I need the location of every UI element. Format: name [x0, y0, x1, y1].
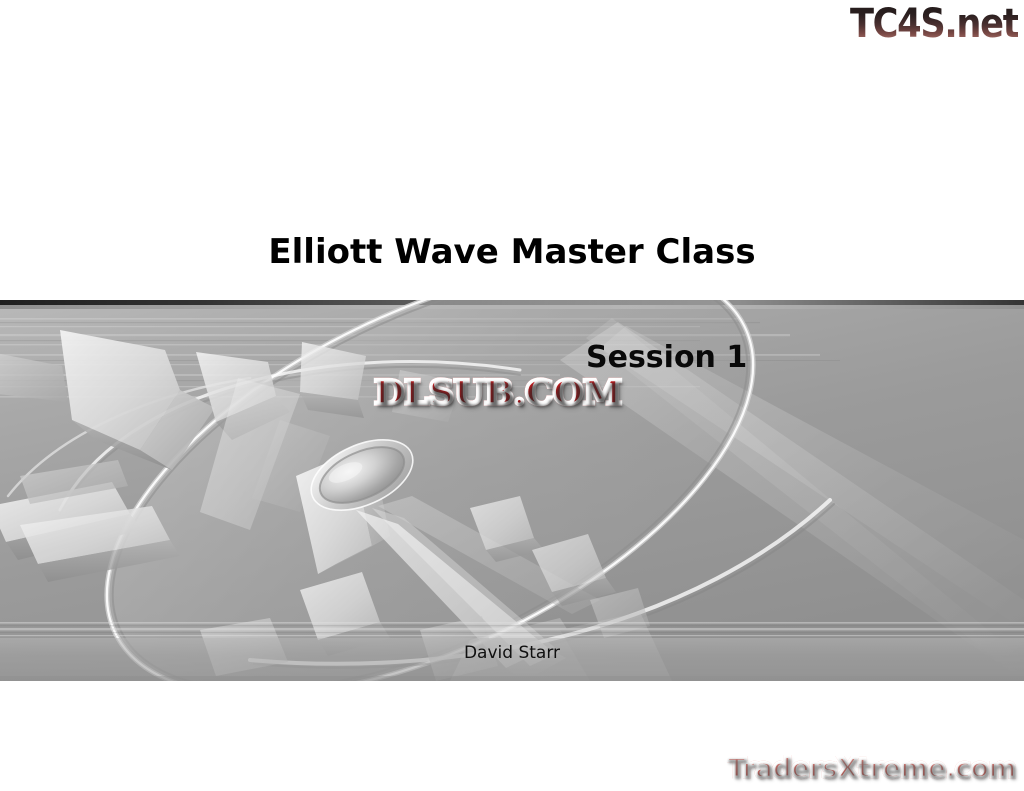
- background-clock-image: [0, 300, 1024, 681]
- tradersxtreme-logo-text: TradersXtreme.com: [727, 753, 1016, 784]
- tradersxtreme-brand-logo: TradersXtreme.com: [727, 753, 1016, 785]
- tc4s-brand-logo: TC4S.net: [850, 2, 1018, 46]
- dlsub-watermark-text: DLSUB.COM: [374, 373, 622, 413]
- clock-graphic-svg: [0, 300, 1024, 681]
- page-title: Elliott Wave Master Class: [0, 232, 1024, 272]
- presentation-slide: TC4S.net Elliott Wave Master Class: [0, 0, 1024, 791]
- author-name: David Starr: [0, 643, 1024, 663]
- dlsub-watermark: DLSUB.COM: [374, 374, 622, 412]
- session-label: Session 1: [586, 340, 747, 375]
